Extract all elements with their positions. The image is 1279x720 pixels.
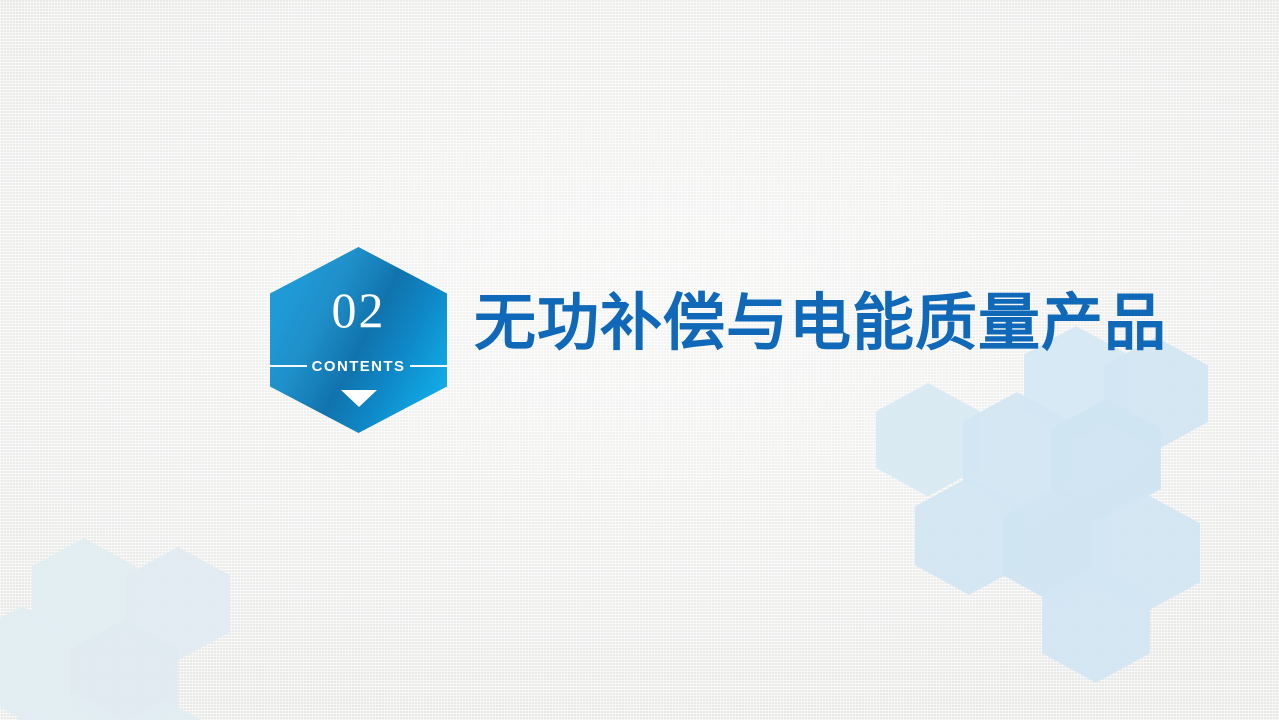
- badge-section-number: 02: [270, 285, 447, 335]
- hex-r6-shape: [915, 477, 1023, 595]
- hex-l5-shape: [18, 690, 122, 720]
- badge-rule-right: [410, 365, 447, 367]
- hex-l3-shape: [0, 606, 74, 719]
- hex-r4-shape: [963, 392, 1071, 510]
- section-title: 无功补偿与电能质量产品: [474, 288, 1167, 360]
- hex-l6-shape: [113, 700, 217, 720]
- badge-contents-label: CONTENTS: [307, 358, 411, 375]
- hex-r3-shape: [876, 383, 980, 496]
- honeycomb-decoration-left: [0, 0, 1279, 720]
- hex-l4-shape: [70, 620, 178, 720]
- slide-background-texture: [0, 0, 1279, 720]
- hex-r7-shape: [1003, 487, 1111, 605]
- honeycomb-decoration-right: [0, 0, 1279, 720]
- hex-l2-shape: [126, 547, 230, 660]
- triangle-down-icon: [341, 390, 377, 407]
- badge-rule-left: [270, 365, 307, 367]
- badge-contents-row: CONTENTS: [270, 355, 447, 377]
- hex-r9-shape: [1042, 565, 1150, 683]
- section-number-badge: 02 CONTENTS: [270, 247, 447, 433]
- hex-r5-shape: [1051, 399, 1161, 519]
- hex-l1-shape: [32, 538, 136, 651]
- slide-canvas: 02 CONTENTS 无功补偿与电能质量产品: [0, 0, 1279, 720]
- hex-r8-shape: [1092, 494, 1200, 612]
